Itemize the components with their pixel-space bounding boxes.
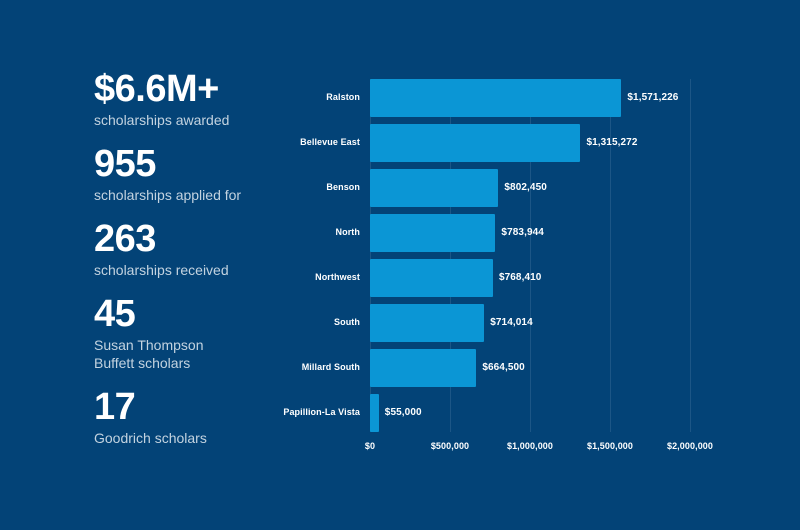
infographic-canvas: $6.6M+scholarships awarded955scholarship… [0, 0, 800, 530]
category-label: Millard South [160, 362, 360, 372]
category-label: Ralston [160, 92, 360, 102]
category-label: South [160, 317, 360, 327]
bar [370, 349, 476, 387]
bar [370, 304, 484, 342]
bar-value-label: $768,410 [499, 272, 542, 283]
bar [370, 214, 495, 252]
bar [370, 124, 580, 162]
category-label: Benson [160, 182, 360, 192]
bar [370, 259, 493, 297]
bar [370, 79, 621, 117]
bar-value-label: $664,500 [482, 362, 525, 373]
bar-value-label: $1,571,226 [627, 92, 678, 103]
bar-chart: Ralston$1,571,226Bellevue East$1,315,272… [0, 0, 800, 530]
category-label: North [160, 227, 360, 237]
bar-value-label: $714,014 [490, 317, 533, 328]
gridline [610, 79, 611, 432]
x-tick-label: $2,000,000 [630, 441, 750, 451]
category-label: Bellevue East [160, 137, 360, 147]
bar [370, 394, 379, 432]
gridline [690, 79, 691, 432]
bar-value-label: $783,944 [501, 227, 544, 238]
bar-value-label: $55,000 [385, 407, 422, 418]
category-label: Papillion-La Vista [160, 407, 360, 417]
bar-value-label: $1,315,272 [586, 137, 637, 148]
bar [370, 169, 498, 207]
category-label: Northwest [160, 272, 360, 282]
bar-value-label: $802,450 [504, 182, 547, 193]
